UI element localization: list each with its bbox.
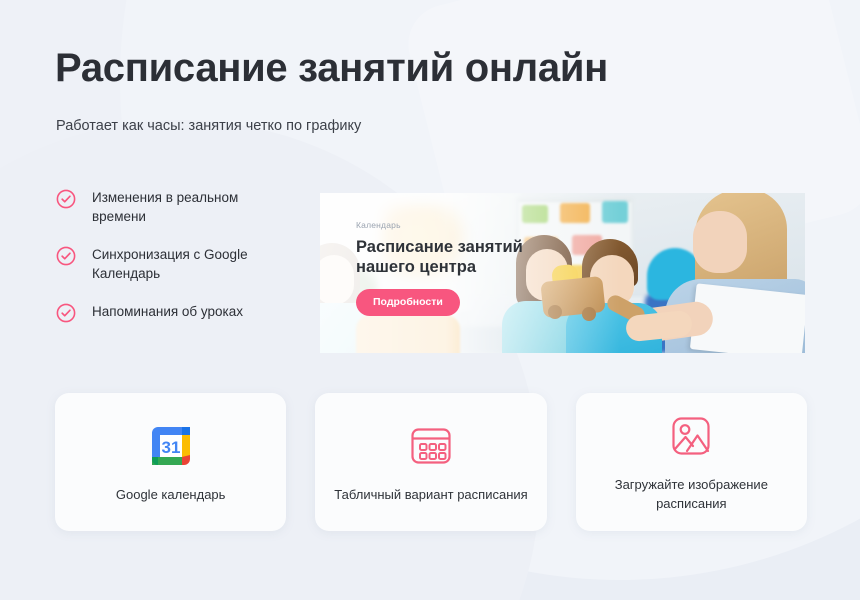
card-label: Загружайте изображение расписания <box>590 475 793 513</box>
image-upload-icon <box>668 411 714 461</box>
check-circle-icon <box>56 246 76 266</box>
calendar-grid-icon <box>408 421 454 471</box>
feature-text: Напоминания об уроках <box>92 302 243 321</box>
feature-list: Изменения в реальном времени Синхронизац… <box>56 188 296 323</box>
banner-details-button[interactable]: Подробности <box>356 289 460 316</box>
check-circle-icon <box>56 189 76 209</box>
feature-text: Синхронизация с Google Календарь <box>92 245 296 283</box>
list-item: Изменения в реальном времени <box>56 188 296 226</box>
card-label: Табличный вариант расписания <box>334 485 527 504</box>
list-item: Синхронизация с Google Календарь <box>56 245 296 283</box>
svg-text:31: 31 <box>161 438 180 457</box>
google-calendar-icon: 31 <box>148 421 194 471</box>
banner-eyebrow: Календарь <box>356 220 586 230</box>
page-title: Расписание занятий онлайн <box>55 46 608 90</box>
banner-title: Расписание занятий нашего центра <box>356 237 586 277</box>
card-google-calendar[interactable]: 31 Google календарь <box>55 393 286 531</box>
feature-cards: 31 Google календарь Табличный вариант ра… <box>55 393 807 531</box>
card-label: Google календарь <box>116 485 226 504</box>
check-circle-icon <box>56 303 76 323</box>
card-table-schedule[interactable]: Табличный вариант расписания <box>315 393 546 531</box>
page-root: Расписание занятий онлайн Работает как ч… <box>0 0 860 600</box>
list-item: Напоминания об уроках <box>56 302 296 323</box>
card-upload-image[interactable]: Загружайте изображение расписания <box>576 393 807 531</box>
promo-banner[interactable]: Календарь Расписание занятий нашего цент… <box>320 193 805 353</box>
page-subtitle: Работает как часы: занятия четко по граф… <box>56 117 361 136</box>
banner-content: Календарь Расписание занятий нашего цент… <box>356 220 586 316</box>
feature-text: Изменения в реальном времени <box>92 188 296 226</box>
